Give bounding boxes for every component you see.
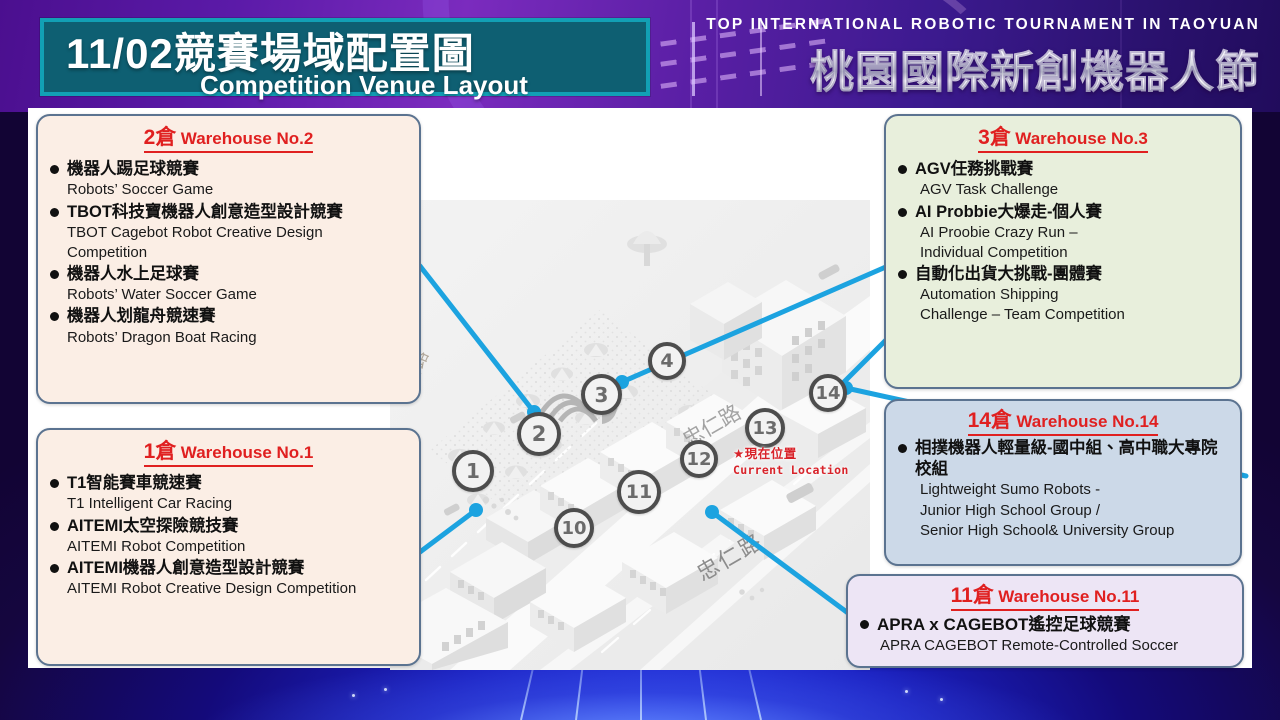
bullet-icon — [898, 270, 907, 279]
list-item: AITEMI機器人創意造型設計競賽 AITEMI Robot Creative … — [50, 558, 407, 599]
panel-warehouse-11-en: Warehouse No.11 — [998, 587, 1139, 606]
current-location-zh: ★現在位置 — [733, 443, 849, 462]
list-item: AGV任務挑戰賽 AGV Task Challenge — [898, 159, 1228, 200]
item-title-zh: APRA x CAGEBOT遙控足球競賽 — [877, 614, 1130, 636]
panel-warehouse-14-header: 14倉 Warehouse No.14 — [898, 409, 1228, 436]
decor-sparkle-4 — [940, 698, 943, 701]
item-title-en-cont: Competition — [67, 243, 407, 263]
panel-warehouse-3-en: Warehouse No.3 — [1015, 129, 1148, 148]
brand-divider — [692, 22, 695, 96]
list-item: TBOT科技寶機器人創意造型設計競賽 TBOT Cagebot Robot Cr… — [50, 202, 407, 264]
item-title-en-cont2: Senior High School& University Group — [920, 521, 1228, 541]
list-item: 相撲機器人輕量級-國中組、高中職大專院校組 Lightweight Sumo R… — [898, 438, 1228, 541]
panel-warehouse-3-header: 3倉 Warehouse No.3 — [898, 126, 1228, 153]
panel-warehouse-1-header: 1倉 Warehouse No.1 — [50, 440, 407, 467]
panel-warehouse-11-num: 11倉 — [951, 584, 994, 607]
list-item: T1智能賽車競速賽 T1 Intelligent Car Racing — [50, 473, 407, 514]
decor-sparkle-1 — [352, 694, 355, 697]
panel-warehouse-2-header: 2倉 Warehouse No.2 — [50, 126, 407, 153]
item-title-en-cont: Challenge – Team Competition — [920, 305, 1228, 325]
item-title-en: AI Proobie Crazy Run – — [920, 223, 1228, 243]
panel-warehouse-2[interactable]: 2倉 Warehouse No.2 機器人踢足球競賽 Robots’ Socce… — [36, 114, 421, 404]
item-title-zh: 機器人划龍舟競速賽 — [67, 306, 216, 327]
current-location-marker: ★現在位置 Current Location — [733, 443, 849, 477]
panel-warehouse-11[interactable]: 11倉 Warehouse No.11 APRA x CAGEBOT遙控足球競賽… — [846, 574, 1244, 668]
map-marker-2[interactable]: 2 — [517, 412, 561, 456]
panel-warehouse-1-list: T1智能賽車競速賽 T1 Intelligent Car Racing AITE… — [50, 473, 407, 599]
current-location-en: Current Location — [733, 463, 849, 477]
panel-warehouse-3[interactable]: 3倉 Warehouse No.3 AGV任務挑戰賽 AGV Task Chal… — [884, 114, 1242, 389]
brand-tagline-en: TOP INTERNATIONAL ROBOTIC TOURNAMENT IN … — [706, 16, 1260, 34]
bullet-icon — [50, 564, 59, 573]
item-title-zh: AITEMI機器人創意造型設計競賽 — [67, 558, 304, 579]
bullet-icon — [50, 312, 59, 321]
list-item: 機器人划龍舟競速賽 Robots’ Dragon Boat Racing — [50, 306, 407, 347]
item-title-en: Robots’ Dragon Boat Racing — [67, 328, 407, 348]
item-title-zh: 機器人踢足球競賽 — [67, 159, 199, 180]
item-title-zh: AI Probbie大爆走-個人賽 — [915, 202, 1102, 223]
bullet-icon — [50, 522, 59, 531]
item-title-zh: AITEMI太空探險競技賽 — [67, 516, 238, 537]
panel-warehouse-2-list: 機器人踢足球競賽 Robots’ Soccer Game TBOT科技寶機器人創… — [50, 159, 407, 348]
item-title-zh: T1智能賽車競速賽 — [67, 473, 202, 494]
brand-title-zh: 桃園國際新創機器人節 — [706, 36, 1260, 100]
item-title-en: Automation Shipping — [920, 285, 1228, 305]
panel-warehouse-14-en: Warehouse No.14 — [1016, 412, 1158, 431]
panel-warehouse-14-list: 相撲機器人輕量級-國中組、高中職大專院校組 Lightweight Sumo R… — [898, 438, 1228, 541]
map-marker-14[interactable]: 14 — [809, 374, 847, 412]
item-title-en: AGV Task Challenge — [920, 180, 1228, 200]
item-title-en: AITEMI Robot Competition — [67, 537, 407, 557]
panel-warehouse-14[interactable]: 14倉 Warehouse No.14 相撲機器人輕量級-國中組、高中職大專院校… — [884, 399, 1242, 566]
panel-warehouse-2-num: 2倉 — [144, 126, 177, 149]
list-item: 機器人水上足球賽 Robots’ Water Soccer Game — [50, 264, 407, 305]
item-title-en: Robots’ Soccer Game — [67, 180, 407, 200]
venue-map: 忠仁路 — [390, 200, 870, 670]
bullet-icon — [860, 620, 869, 629]
list-item: 自動化出貨大挑戰-團體賽 Automation Shipping Challen… — [898, 264, 1228, 326]
map-marker-1[interactable]: 1 — [452, 450, 494, 492]
item-title-en: Lightweight Sumo Robots - — [920, 480, 1228, 500]
item-title-en: TBOT Cagebot Robot Creative Design — [67, 223, 407, 243]
list-item: AI Probbie大爆走-個人賽 AI Proobie Crazy Run –… — [898, 202, 1228, 264]
item-title-zh: 自動化出貨大挑戰-團體賽 — [915, 264, 1102, 285]
panel-warehouse-1[interactable]: 1倉 Warehouse No.1 T1智能賽車競速賽 T1 Intellige… — [36, 428, 421, 666]
item-title-en-cont: Individual Competition — [920, 243, 1228, 263]
bullet-icon — [50, 479, 59, 488]
bullet-icon — [50, 270, 59, 279]
bullet-icon — [50, 208, 59, 217]
item-title-en: T1 Intelligent Car Racing — [67, 494, 407, 514]
panel-warehouse-3-num: 3倉 — [978, 126, 1011, 149]
item-title-en-cont: Junior High School Group / — [920, 501, 1228, 521]
item-title-en: APRA CAGEBOT Remote-Controlled Soccer — [880, 636, 1230, 656]
item-title-zh: 相撲機器人輕量級-國中組、高中職大專院校組 — [915, 438, 1228, 480]
map-marker-10[interactable]: 10 — [554, 508, 594, 548]
panel-warehouse-14-num: 14倉 — [968, 409, 1012, 432]
map-marker-13[interactable]: 13 — [745, 408, 785, 448]
map-marker-12[interactable]: 12 — [680, 440, 718, 478]
panel-warehouse-3-list: AGV任務挑戰賽 AGV Task Challenge AI Probbie大爆… — [898, 159, 1228, 326]
list-item: APRA x CAGEBOT遙控足球競賽 APRA CAGEBOT Remote… — [860, 614, 1230, 656]
slide-root: 11/02競賽場域配置圖 Competition Venue Layout TO… — [0, 0, 1280, 720]
panel-warehouse-11-header: 11倉 Warehouse No.11 — [860, 584, 1230, 611]
map-marker-11[interactable]: 11 — [617, 470, 661, 514]
list-item: AITEMI太空探險競技賽 AITEMI Robot Competition — [50, 516, 407, 557]
decor-sparkle-2 — [384, 688, 387, 691]
item-title-zh: AGV任務挑戰賽 — [915, 159, 1033, 180]
panel-warehouse-11-list: APRA x CAGEBOT遙控足球競賽 APRA CAGEBOT Remote… — [860, 614, 1230, 656]
item-title-en: AITEMI Robot Creative Design Competition — [67, 579, 407, 599]
map-marker-3[interactable]: 3 — [581, 374, 622, 415]
decor-sparkle-3 — [905, 690, 908, 693]
item-title-zh: TBOT科技寶機器人創意造型設計競賽 — [67, 202, 343, 223]
list-item: 機器人踢足球競賽 Robots’ Soccer Game — [50, 159, 407, 200]
panel-warehouse-1-num: 1倉 — [144, 440, 177, 463]
bullet-icon — [898, 165, 907, 174]
page-title-en: Competition Venue Layout — [200, 70, 528, 101]
item-title-en: Robots’ Water Soccer Game — [67, 285, 407, 305]
panel-warehouse-2-en: Warehouse No.2 — [181, 129, 314, 148]
map-marker-4[interactable]: 4 — [648, 342, 686, 380]
panel-warehouse-1-en: Warehouse No.1 — [181, 443, 314, 462]
item-title-zh: 機器人水上足球賽 — [67, 264, 199, 285]
bullet-icon — [898, 444, 907, 453]
bullet-icon — [898, 208, 907, 217]
bullet-icon — [50, 165, 59, 174]
event-brand: TOP INTERNATIONAL ROBOTIC TOURNAMENT IN … — [706, 16, 1260, 100]
